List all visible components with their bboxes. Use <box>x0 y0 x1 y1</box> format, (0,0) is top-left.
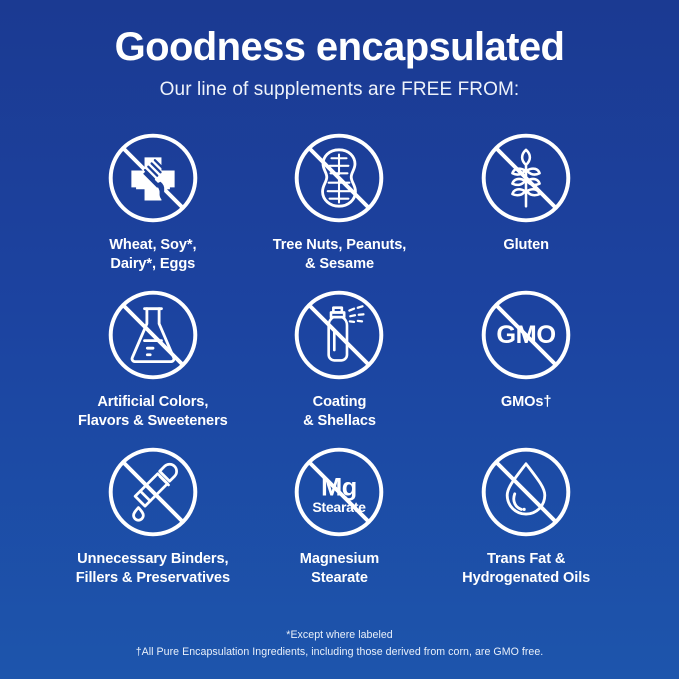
grid-item: Trans Fat & Hydrogenated Oils <box>433 445 620 602</box>
grid-item: Mg Stearate Magnesium Stearate <box>246 445 433 602</box>
page-subtitle: Our line of supplements are FREE FROM: <box>0 79 679 101</box>
no-magnesium-stearate-icon: Mg Stearate <box>292 445 386 539</box>
grid-item-label: Unnecessary Binders, Fillers & Preservat… <box>76 550 230 587</box>
mg-icon-text: Mg <box>322 473 358 501</box>
grid-item: Gluten <box>433 131 620 288</box>
no-dropper-icon <box>106 445 200 539</box>
grid-item-label: Trans Fat & Hydrogenated Oils <box>462 550 590 587</box>
header: Goodness encapsulated Our line of supple… <box>0 0 679 101</box>
page-title: Goodness encapsulated <box>0 26 679 69</box>
grid-item-label: GMOs† <box>501 393 552 412</box>
no-spray-can-icon <box>292 288 386 382</box>
grid-item-label: Magnesium Stearate <box>300 550 379 587</box>
supplement-free-from-poster: Goodness encapsulated Our line of supple… <box>0 0 679 679</box>
no-gmo-text-icon: GMO <box>479 288 573 382</box>
grid-item-label: Wheat, Soy*, Dairy*, Eggs <box>109 236 196 273</box>
no-wheat-stalk-icon <box>479 131 573 225</box>
grid-item: Artificial Colors, Flavors & Sweeteners <box>60 288 247 445</box>
grid-item-label: Coating & Shellacs <box>303 393 376 430</box>
no-peanut-icon <box>292 131 386 225</box>
grid-item: Tree Nuts, Peanuts, & Sesame <box>246 131 433 288</box>
footnote-asterisk: *Except where labeled <box>0 627 679 644</box>
grid-item: Unnecessary Binders, Fillers & Preservat… <box>60 445 247 602</box>
free-from-grid: Wheat, Soy*, Dairy*, Eggs <box>60 131 620 602</box>
grid-item-label: Tree Nuts, Peanuts, & Sesame <box>273 236 407 273</box>
grid-item: Wheat, Soy*, Dairy*, Eggs <box>60 131 247 288</box>
grid-item-label: Artificial Colors, Flavors & Sweeteners <box>78 393 228 430</box>
grid-item-label: Gluten <box>503 236 549 255</box>
footnotes: *Except where labeled †All Pure Encapsul… <box>0 627 679 661</box>
no-flask-icon <box>106 288 200 382</box>
footnote-dagger: †All Pure Encapsulation Ingredients, inc… <box>0 644 679 661</box>
grid-item: GMO GMOs† <box>433 288 620 445</box>
grid-item: Coating & Shellacs <box>246 288 433 445</box>
no-allergens-cross-fork-icon <box>106 131 200 225</box>
gmo-icon-text: GMO <box>497 321 556 349</box>
no-oil-droplet-icon <box>479 445 573 539</box>
stearate-icon-text: Stearate <box>313 499 367 515</box>
